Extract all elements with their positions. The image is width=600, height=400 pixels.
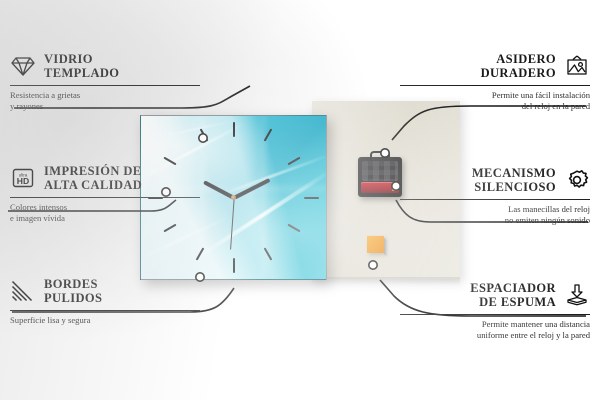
feature-title: VIDRIO TEMPLADO: [44, 52, 119, 80]
feature-title: ASIDERO DURADERO: [481, 52, 556, 80]
feature-header: ASIDERO DURADERO: [358, 52, 590, 80]
feature-title-line1: ASIDERO: [481, 52, 556, 66]
feature-title: BORDES PULIDOS: [44, 277, 102, 305]
feature-header: BORDES PULIDOS: [10, 277, 242, 305]
feature-description: Superficie lisa y segura: [10, 315, 242, 326]
feature-desc-line1: Superficie lisa y segura: [10, 315, 242, 326]
feature-title-line2: PULIDOS: [44, 291, 102, 305]
clock-tick-8: [164, 223, 177, 232]
svg-text:HD: HD: [17, 176, 29, 186]
feature-divider: [400, 314, 590, 315]
feature-title-line2: ALTA CALIDAD: [44, 178, 142, 192]
feature-title: MECANISMO SILENCIOSO: [472, 166, 556, 194]
feature-espaciador-de-espuma[interactable]: ESPACIADOR DE ESPUMA Permite mantener un…: [358, 281, 590, 341]
feature-title-line2: DE ESPUMA: [470, 295, 556, 309]
feature-title-line1: ESPACIADOR: [470, 281, 556, 295]
feature-desc-line2: no emiten ningún sonido: [358, 215, 590, 226]
feature-divider: [10, 197, 200, 198]
hanging-picture-frame-icon: [564, 54, 590, 78]
feature-title-line1: IMPRESIÓN DE: [44, 164, 142, 178]
feature-desc-line1: Resistencia a grietas: [10, 90, 242, 101]
feature-desc-line2: del reloj en la pared: [358, 101, 590, 112]
clock-tick-12: [233, 122, 235, 137]
feature-description: Permite una fácil instalación del reloj …: [358, 90, 590, 112]
feature-description: Permite mantener una distancia uniforme …: [358, 319, 590, 341]
feature-header: MECANISMO SILENCIOSO: [358, 166, 590, 194]
feature-mecanismo-silencioso[interactable]: MECANISMO SILENCIOSO Las manecillas del …: [358, 166, 590, 226]
clock-tick-5: [264, 247, 273, 260]
clock-tick-6: [233, 258, 235, 273]
feature-description: Resistencia a grietas y rayones: [10, 90, 242, 112]
feature-desc-line1: Permite mantener una distancia: [358, 319, 590, 330]
feature-divider: [10, 310, 200, 311]
feature-description: Las manecillas del reloj no emiten ningú…: [358, 204, 590, 226]
feature-title-line1: BORDES: [44, 277, 102, 291]
feature-divider: [400, 85, 590, 86]
diamond-icon: [10, 54, 36, 78]
arrow-onto-foam-pad-icon: [564, 283, 590, 307]
gear-icon: [564, 168, 590, 192]
feature-divider: [10, 85, 200, 86]
feature-title: IMPRESIÓN DE ALTA CALIDAD: [44, 164, 142, 192]
feature-header: VIDRIO TEMPLADO: [10, 52, 242, 80]
feature-title: ESPACIADOR DE ESPUMA: [470, 281, 556, 309]
clock-tick-3: [304, 197, 319, 199]
diagonal-lines-icon: [10, 279, 36, 303]
feature-bordes-pulidos[interactable]: BORDES PULIDOS Superficie lisa y segura: [10, 277, 242, 326]
mechanism-hanging-tab: [370, 151, 390, 161]
clock-tick-4: [288, 223, 301, 232]
feature-header: ESPACIADOR DE ESPUMA: [358, 281, 590, 309]
clock-tick-11: [199, 128, 208, 141]
feature-desc-line1: Las manecillas del reloj: [358, 204, 590, 215]
clock-tick-1: [264, 128, 273, 141]
feature-title-line1: VIDRIO: [44, 52, 119, 66]
feature-title-line2: TEMPLADO: [44, 66, 119, 80]
feature-header: ultra HD IMPRESIÓN DE ALTA CALIDAD: [10, 164, 242, 192]
feature-description: Colores intensos e imagen vívida: [10, 202, 242, 224]
feature-title-line2: SILENCIOSO: [472, 180, 556, 194]
feature-desc-line2: uniforme entre el reloj y la pared: [358, 330, 590, 341]
feature-desc-line1: Permite una fácil instalación: [358, 90, 590, 101]
infographic-canvas: VIDRIO TEMPLADO Resistencia a grietas y …: [0, 0, 600, 400]
feature-title-line1: MECANISMO: [472, 166, 556, 180]
feature-impresion-alta-calidad[interactable]: ultra HD IMPRESIÓN DE ALTA CALIDAD Color…: [10, 164, 242, 224]
feature-desc-line2: y rayones: [10, 101, 242, 112]
feature-desc-line2: e imagen vívida: [10, 213, 242, 224]
feature-vidrio-templado[interactable]: VIDRIO TEMPLADO Resistencia a grietas y …: [10, 52, 242, 112]
feature-title-line2: DURADERO: [481, 66, 556, 80]
feature-desc-line1: Colores intensos: [10, 202, 242, 213]
ultra-hd-icon: ultra HD: [10, 166, 36, 190]
orange-foam-spacer: [367, 236, 384, 253]
feature-divider: [400, 199, 590, 200]
feature-asidero-duradero[interactable]: ASIDERO DURADERO Permite una fácil insta…: [358, 52, 590, 112]
